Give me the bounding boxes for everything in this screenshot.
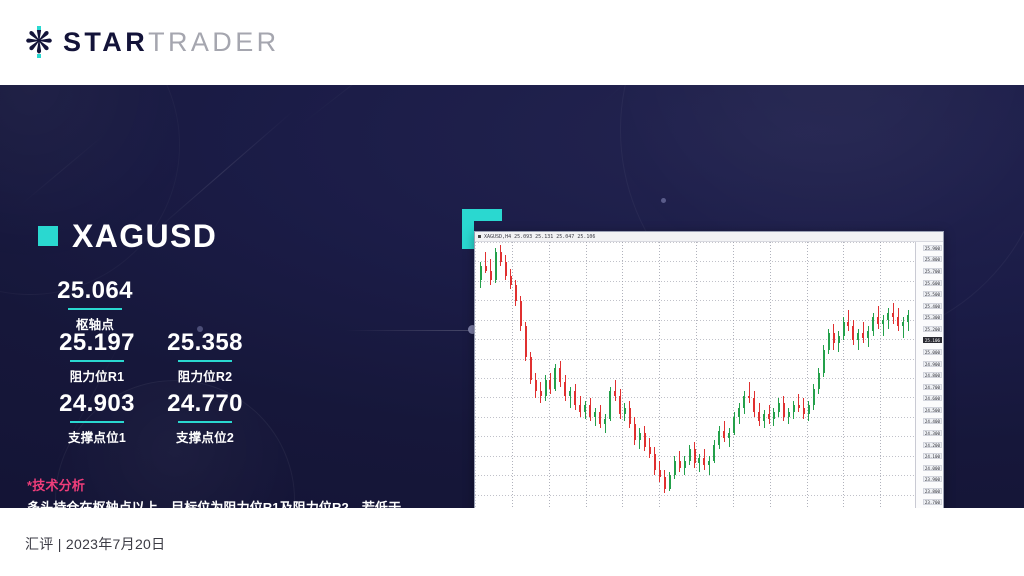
price-tick: 25.200 xyxy=(923,326,942,332)
brand-wordmark: STAR TRADER xyxy=(63,29,280,56)
price-tick: 25.700 xyxy=(923,268,942,274)
accent-rule xyxy=(68,308,122,310)
level-support-2: 24.770 支撑点位2 xyxy=(148,391,262,446)
candle-series xyxy=(475,242,915,508)
level-label: 阻力位R1 xyxy=(40,366,154,385)
instrument-title: XAGUSD xyxy=(38,220,217,252)
price-tick: 25.400 xyxy=(923,303,942,309)
footer-caption: 汇评 | 2023年7月20日 xyxy=(25,534,165,554)
price-tick: 24.500 xyxy=(923,407,942,413)
decor-arc xyxy=(0,85,180,295)
level-support-1: 24.903 支撑点位1 xyxy=(40,391,154,446)
accent-rule xyxy=(178,421,232,423)
price-tick: 25.500 xyxy=(923,291,942,297)
decor-line xyxy=(345,330,485,331)
page-footer: 汇评 | 2023年7月20日 xyxy=(0,508,1024,576)
price-tick: 24.300 xyxy=(923,430,942,436)
level-label: 支撑点位1 xyxy=(40,427,154,446)
price-chart[interactable]: XAGUSD,H4 25.093 25.131 25.047 25.106 25… xyxy=(474,231,944,508)
technical-analysis: *技术分析 多头持仓在枢轴点以上，目标位为阻力位R1及阻力位R2。若低于枢轴点，… xyxy=(27,475,402,508)
level-label: 支撑点位2 xyxy=(148,427,262,446)
brand-name-light: TRADER xyxy=(148,29,279,56)
price-tick: 23.700 xyxy=(923,499,942,505)
price-tick: 25.900 xyxy=(923,245,942,251)
analysis-heading: *技术分析 xyxy=(27,475,402,494)
accent-rule xyxy=(70,421,124,423)
level-value: 25.064 xyxy=(40,278,150,305)
level-label: 阻力位R2 xyxy=(148,366,262,385)
price-tick-current: 25.106 xyxy=(923,337,942,343)
main-panel: XAGUSD 25.064 枢轴点 25.197 阻力位R1 25.358 阻力… xyxy=(0,85,1024,508)
level-resistance-1: 25.197 阻力位R1 xyxy=(40,330,154,385)
page-header: ❋ STAR TRADER xyxy=(0,0,1024,85)
price-tick: 23.800 xyxy=(923,488,942,494)
accent-rule xyxy=(178,360,232,362)
price-tick: 25.600 xyxy=(923,280,942,286)
price-tick: 24.800 xyxy=(923,372,942,378)
price-tick: 24.100 xyxy=(923,453,942,459)
square-marker-icon xyxy=(38,226,58,246)
level-resistance-2: 25.358 阻力位R2 xyxy=(148,330,262,385)
accent-rule xyxy=(70,360,124,362)
price-tick: 24.200 xyxy=(923,442,942,448)
level-value: 24.903 xyxy=(40,391,154,418)
chart-marker-icon xyxy=(478,235,481,238)
chart-header: XAGUSD,H4 25.093 25.131 25.047 25.106 xyxy=(475,232,943,242)
page-title: XAGUSD xyxy=(72,220,217,252)
chart-plot-area xyxy=(475,242,915,508)
price-tick: 24.000 xyxy=(923,465,942,471)
price-tick: 24.400 xyxy=(923,418,942,424)
level-value: 25.358 xyxy=(148,330,262,357)
price-tick: 24.600 xyxy=(923,395,942,401)
chart-title: XAGUSD,H4 25.093 25.131 25.047 25.106 xyxy=(484,234,595,240)
brand-name-bold: STAR xyxy=(63,29,148,56)
price-tick: 25.300 xyxy=(923,314,942,320)
price-tick: 25.800 xyxy=(923,256,942,262)
brand-logo: ❋ STAR TRADER xyxy=(24,27,280,57)
price-tick: 23.900 xyxy=(923,476,942,482)
price-tick: 25.000 xyxy=(923,349,942,355)
level-pivot: 25.064 枢轴点 xyxy=(40,278,150,333)
decor-dot xyxy=(661,198,666,203)
analysis-body: 多头持仓在枢轴点以上，目标位为阻力位R1及阻力位R2。若低于枢轴点，则可能下跌至… xyxy=(27,498,402,508)
asterisk-star-icon: ❋ xyxy=(24,27,54,57)
decor-streak xyxy=(300,85,482,126)
level-value: 24.770 xyxy=(148,391,262,418)
price-tick: 24.900 xyxy=(923,361,942,367)
level-value: 25.197 xyxy=(40,330,154,357)
price-tick: 24.700 xyxy=(923,384,942,390)
price-axis: 25.90025.80025.70025.60025.50025.40025.3… xyxy=(915,242,943,508)
